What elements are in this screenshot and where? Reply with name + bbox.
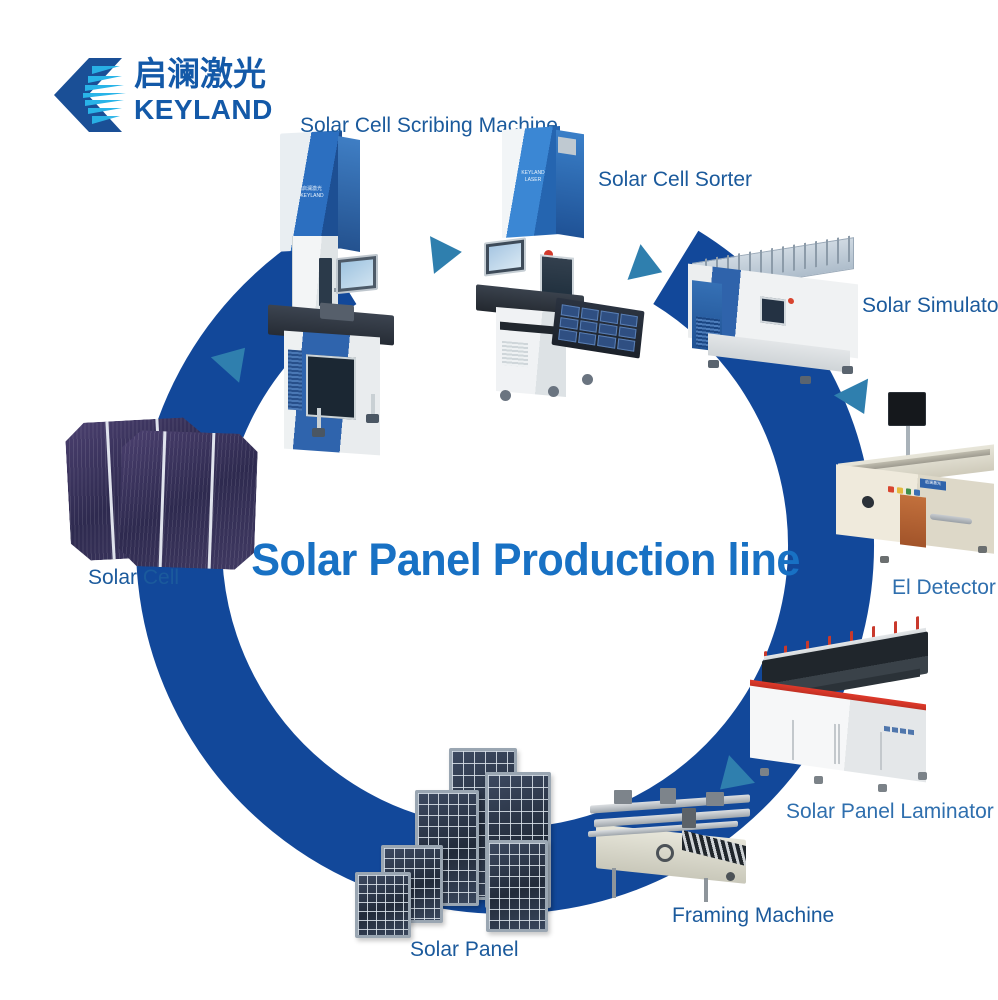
machine-brand-badge: 启澜激光 KEYLAND [298,186,326,208]
label-framing-machine: Framing Machine [672,904,834,928]
machine-solar-simulator [684,248,862,388]
solar-panel-module [486,840,548,932]
machine-foot [918,772,927,780]
machine-brand-badge: KEYLAND LASER [520,170,546,190]
machine-foot [312,428,325,437]
machine-foot [760,768,769,776]
cabinet-vent [502,341,528,367]
laser-head [319,258,332,306]
label-cell-sorter: Solar Cell Sorter [598,168,752,192]
busbar [207,433,215,569]
machine-caster [726,872,735,881]
machine-foot [978,546,987,553]
machine-foot [878,784,887,792]
work-fixture [320,303,354,322]
machine-access-panel [900,494,926,547]
flow-arrow-icon [628,244,669,290]
machine-caster [582,374,593,385]
infographic-canvas: 启澜激光 KEYLAND Solar Cell 启澜激光 KEYLAND Sol… [0,0,998,1000]
brand-logo[interactable]: 启澜激光 KEYLAND [48,52,288,140]
label-laminator: Solar Panel Laminator [786,800,994,824]
clamp-head [682,808,696,828]
machine-tower-side [338,136,360,252]
machine-leg [317,408,321,430]
machine-foot [880,556,889,563]
status-led [788,298,794,305]
el-display-monitor [888,392,926,426]
cabinet-door-seam [838,724,840,764]
machine-monitor [484,237,526,276]
machine-solar-cell-scribing: 启澜激光 KEYLAND [262,132,402,432]
machine-leg [612,868,616,898]
brand-name-cn: 启澜激光 [134,54,324,94]
machine-caster [500,390,511,401]
machine-framing [586,786,762,904]
machine-foot [800,376,811,384]
machine-leg [371,394,375,416]
cabinet-door-seam [792,720,794,760]
keyland-arrow-logo-icon [48,56,126,134]
machine-el-detector: 启澜激光 [836,392,998,560]
cabinet-window [306,354,356,419]
machine-caster [548,386,559,397]
cabinet-door-seam [880,732,882,770]
clamp-head [660,788,676,804]
cabinet-door-seam [834,724,836,764]
machine-foot [366,414,379,423]
hand-wheel[interactable] [656,844,674,862]
tower-vent [558,137,576,156]
machine-monitor [336,254,378,294]
clamp-head [706,792,724,806]
busbar [106,421,116,559]
hmi-touch-panel[interactable] [760,296,786,325]
machine-foot [842,366,853,374]
cabinet-vent [288,350,302,411]
solar-panel-module [355,872,411,938]
brand-name-en: KEYLAND [134,94,324,126]
machine-leg [704,878,708,902]
page-title: Solar Panel Production line [228,534,823,586]
label-solar-panel: Solar Panel [410,938,519,962]
clamp-head [614,790,632,804]
machine-solar-panel-laminator [748,624,932,796]
label-solar-cell: Solar Cell [88,566,179,590]
machine-foot [814,776,823,784]
flow-arrow-icon [430,233,464,274]
busbar [158,431,166,567]
machine-foot [708,360,719,368]
label-solar-simulator: Solar Simulator [862,294,998,318]
label-el-detector: El Detector [892,576,996,600]
